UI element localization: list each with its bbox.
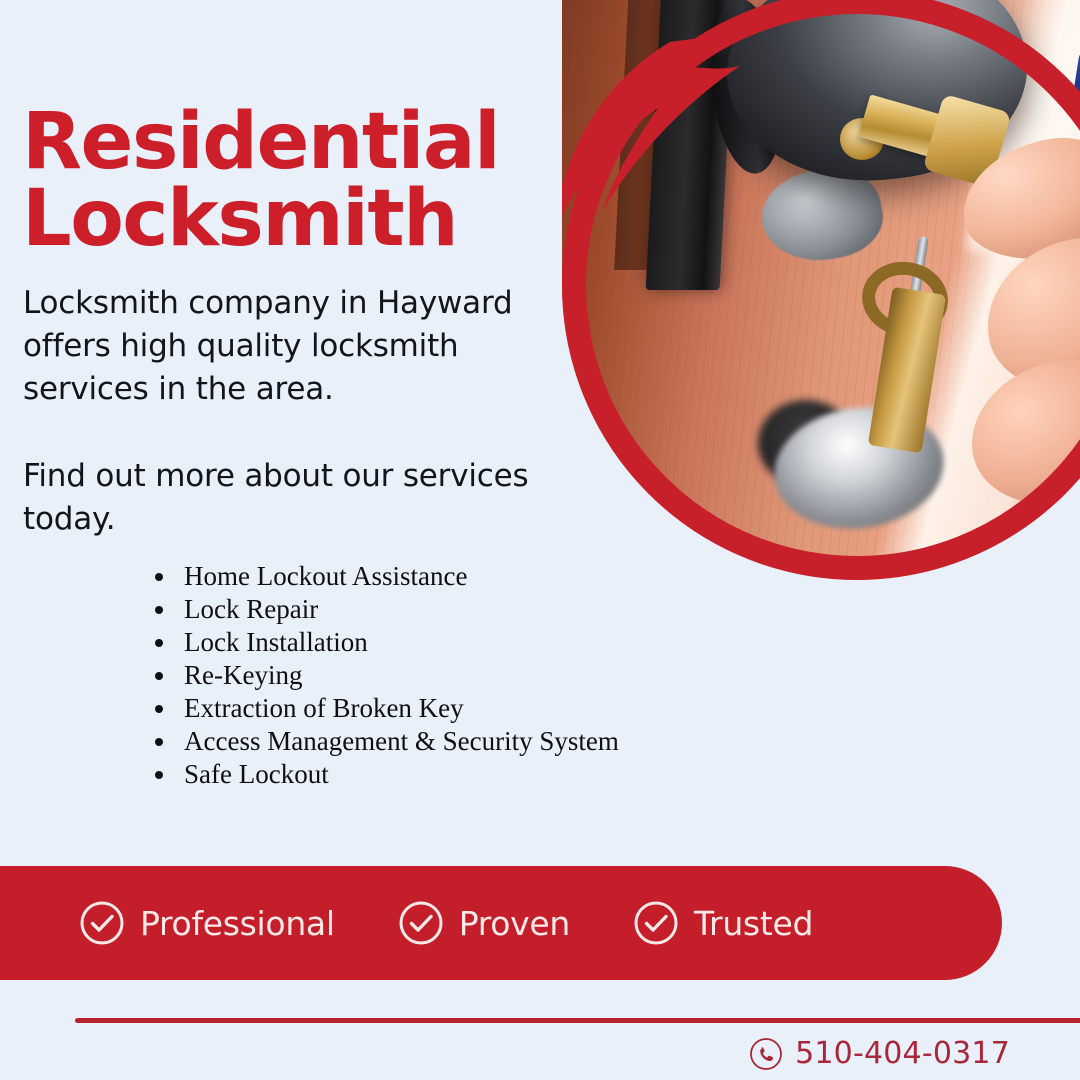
key-ring	[909, 236, 929, 301]
deadbolt-knob	[716, 0, 1037, 195]
second-key	[868, 287, 946, 453]
lock-plate	[755, 160, 889, 269]
second-key-head	[857, 256, 954, 343]
wall-highlight	[967, 0, 1080, 269]
red-ring-swoosh-icon	[562, 0, 1080, 580]
phone-contact[interactable]: 510-404-0317	[749, 1036, 1010, 1071]
headline-line-2: Locksmith	[22, 181, 542, 258]
hero-photo-clip	[562, 0, 1080, 580]
check-circle-icon	[78, 899, 126, 947]
poster-canvas: Residential Locksmith Locksmith company …	[0, 0, 1080, 1080]
services-list: Home Lockout Assistance Lock Repair Lock…	[160, 560, 619, 791]
list-item: Re-Keying	[178, 659, 619, 692]
brass-key-bow	[923, 94, 1012, 188]
finger-middle	[972, 223, 1080, 407]
door-photo-image	[562, 0, 1080, 580]
page-title: Residential Locksmith	[22, 104, 542, 258]
footer-divider	[75, 1018, 1080, 1023]
badge-label: Proven	[459, 904, 570, 943]
badge-professional: Professional	[78, 899, 335, 947]
list-item: Access Management & Security System	[178, 725, 619, 758]
finger-lower	[954, 340, 1080, 524]
badge-label: Professional	[140, 904, 335, 943]
badge-trusted: Trusted	[632, 899, 813, 947]
check-circle-icon	[397, 899, 445, 947]
list-item: Safe Lockout	[178, 758, 619, 791]
lower-door-knob	[766, 397, 951, 539]
intro-paragraph-1: Locksmith company in Hayward offers high…	[23, 282, 563, 411]
door-jamb-wood	[614, 0, 670, 270]
door-jamb-dark	[646, 0, 737, 290]
list-item: Lock Repair	[178, 593, 619, 626]
badge-proven: Proven	[397, 899, 570, 947]
headline-line-1: Residential	[22, 104, 542, 181]
badge-label: Trusted	[694, 904, 813, 943]
list-item: Extraction of Broken Key	[178, 692, 619, 725]
hero-photo	[562, 0, 1080, 580]
list-item: Lock Installation	[178, 626, 619, 659]
check-circle-icon	[632, 899, 680, 947]
phone-number: 510-404-0317	[795, 1036, 1010, 1071]
lower-knob-shadow	[758, 400, 854, 486]
finger-upper	[955, 129, 1080, 270]
trust-badge-bar: Professional Proven Trusted	[0, 866, 1002, 980]
deadbolt-rim	[703, 0, 791, 177]
phone-circle-icon	[749, 1037, 783, 1071]
brass-key-blade	[858, 94, 985, 169]
hero-media	[562, 0, 1080, 580]
intro-copy: Locksmith company in Hayward offers high…	[23, 282, 563, 541]
key-fob	[1068, 47, 1080, 136]
list-item: Home Lockout Assistance	[178, 560, 619, 593]
intro-paragraph-2: Find out more about our services today.	[23, 455, 563, 541]
lock-cylinder	[840, 118, 884, 160]
